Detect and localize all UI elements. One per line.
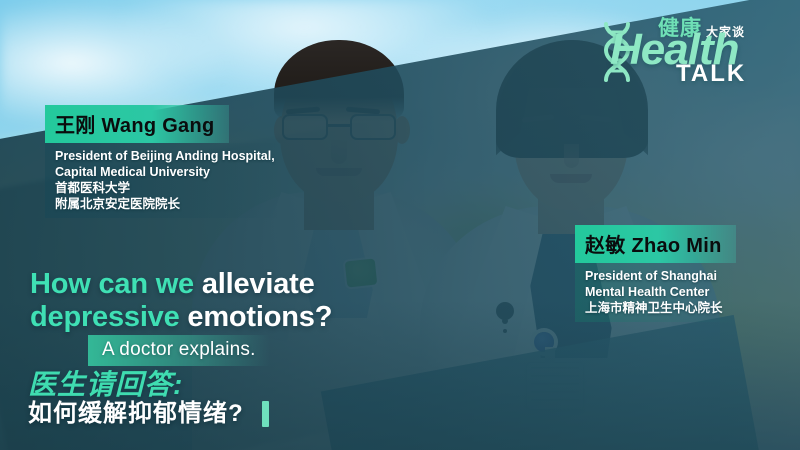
headline-chinese-line-2: 如何缓解抑郁情绪? (28, 400, 244, 428)
headline-chinese-line-2-wrap: 如何缓解抑郁情绪? (28, 400, 269, 428)
health-talk-logo: 健康 大家谈 Health TALK (598, 12, 778, 88)
headline-line-1-teal: How can we (30, 268, 202, 300)
guest-title-line: Capital Medical University (55, 164, 275, 180)
guest-name-wang-gang: 王刚 Wang Gang (45, 105, 229, 143)
guest-title-zhao-min: President of Shanghai Mental Health Cent… (575, 263, 736, 322)
guest-name-zhao-min: 赵敏 Zhao Min (575, 225, 736, 263)
guest-title-line: 上海市精神卫生中心院长 (585, 300, 726, 316)
headline-line-2-teal: depressive (30, 301, 187, 333)
subtitle-text: A doctor explains. (102, 339, 256, 360)
guest-title-wang-gang: President of Beijing Anding Hospital, Ca… (45, 143, 285, 218)
logo-talk-text: TALK (676, 62, 746, 86)
name-card-wang-gang: 王刚 Wang Gang President of Beijing Anding… (45, 105, 285, 218)
guest-title-line: President of Shanghai (585, 268, 726, 284)
accent-bar (262, 401, 269, 427)
name-card-zhao-min: 赵敏 Zhao Min President of Shanghai Mental… (575, 225, 736, 322)
headline-chinese-line-1: 医生请回答: (28, 370, 183, 400)
guest-title-line: 附属北京安定医院院长 (55, 196, 275, 212)
guest-title-line: 首都医科大学 (55, 180, 275, 196)
guest-title-line: President of Beijing Anding Hospital, (55, 148, 275, 164)
headline-line-2: depressive emotions? (30, 301, 332, 334)
headline-line-1: How can we alleviate (30, 268, 332, 301)
headline-english: How can we alleviate depressive emotions… (30, 268, 332, 334)
headline-line-2-white: emotions? (187, 301, 332, 333)
subtitle-band: A doctor explains. (88, 335, 270, 366)
headline-line-1-white: alleviate (202, 268, 315, 300)
guest-title-line: Mental Health Center (585, 284, 726, 300)
video-thumbnail: 健康 大家谈 Health TALK 王刚 Wang Gang Presiden… (0, 0, 800, 450)
